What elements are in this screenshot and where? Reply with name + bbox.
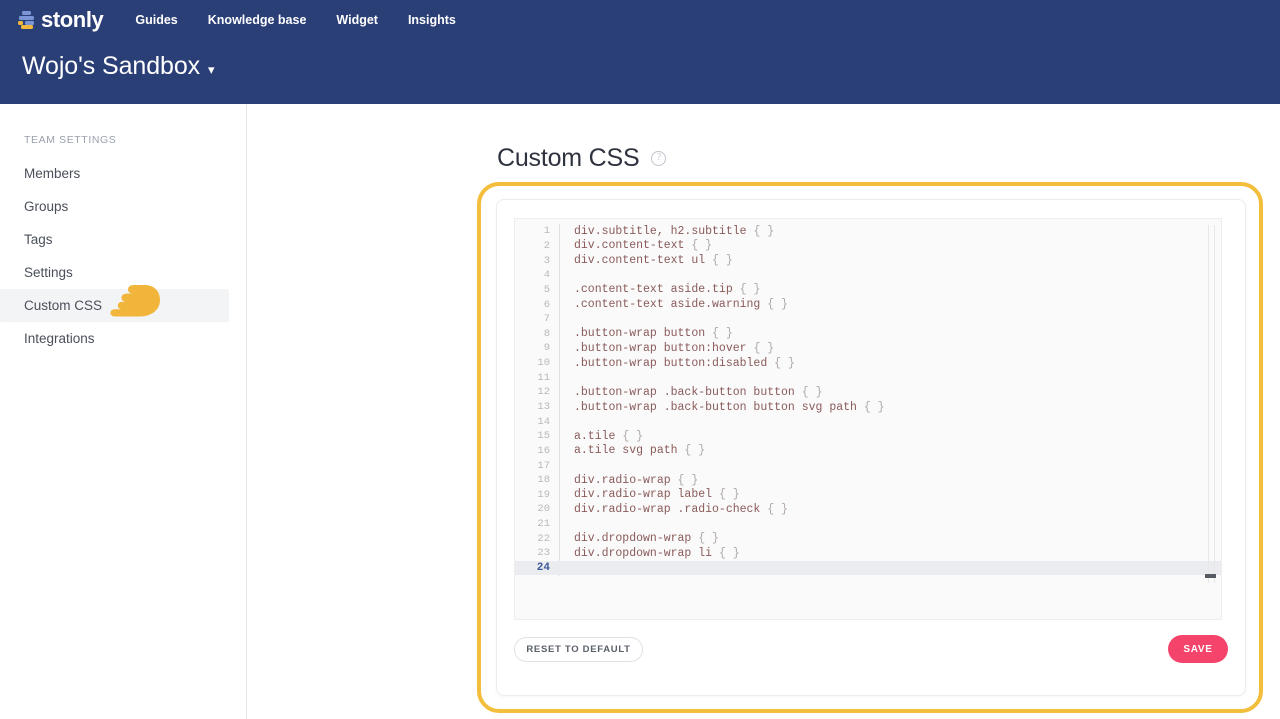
sidebar-item-label: Groups — [24, 199, 68, 214]
code-text: div.radio-wrap .radio-check { } — [559, 503, 788, 516]
code-line[interactable]: 20div.radio-wrap .radio-check { } — [515, 502, 1221, 517]
editor-line-list: 1div.subtitle, h2.subtitle { }2div.conte… — [515, 224, 1221, 575]
line-number: 1 — [515, 225, 559, 237]
css-code-editor[interactable]: 1div.subtitle, h2.subtitle { }2div.conte… — [514, 218, 1222, 620]
save-button[interactable]: SAVE — [1168, 635, 1228, 663]
code-line[interactable]: 19div.radio-wrap label { } — [515, 488, 1221, 503]
code-text: .content-text aside.tip { } — [559, 283, 760, 296]
line-number: 15 — [515, 430, 559, 442]
code-line[interactable]: 5.content-text aside.tip { } — [515, 283, 1221, 298]
sidebar-item-label: Settings — [24, 265, 73, 280]
sidebar-item-custom-css[interactable]: Custom CSS — [0, 289, 229, 322]
line-number: 6 — [515, 299, 559, 311]
brand-logo[interactable]: stonly — [18, 9, 103, 31]
code-line[interactable]: 24 — [515, 561, 1221, 576]
sidebar-item-members[interactable]: Members — [0, 157, 246, 190]
code-text: .button-wrap .back-button button { } — [559, 386, 822, 399]
header-nav-links: Guides Knowledge base Widget Insights — [135, 13, 455, 27]
code-line[interactable]: 7 — [515, 312, 1221, 327]
sidebar-item-integrations[interactable]: Integrations — [0, 322, 246, 355]
page-title: Custom CSS — [497, 144, 639, 173]
code-line[interactable]: 2div.content-text { } — [515, 239, 1221, 254]
editor-scrollbar-thumb[interactable] — [1205, 574, 1216, 578]
sidebar-item-groups[interactable]: Groups — [0, 190, 246, 223]
line-number: 13 — [515, 401, 559, 413]
line-number: 14 — [515, 416, 559, 428]
code-text: .button-wrap button:disabled { } — [559, 357, 795, 370]
team-name: Wojo's Sandbox — [22, 52, 200, 81]
code-line[interactable]: 14 — [515, 414, 1221, 429]
top-header: stonly Guides Knowledge base Widget Insi… — [0, 0, 1280, 104]
header-nav-row: stonly Guides Knowledge base Widget Insi… — [0, 0, 1280, 40]
nav-item-guides[interactable]: Guides — [135, 13, 177, 27]
code-line[interactable]: 10.button-wrap button:disabled { } — [515, 356, 1221, 371]
line-number: 21 — [515, 518, 559, 530]
code-line[interactable]: 15a.tile { } — [515, 429, 1221, 444]
code-text: .button-wrap .back-button button svg pat… — [559, 401, 885, 414]
sidebar-item-label: Integrations — [24, 331, 95, 346]
code-line[interactable]: 18div.radio-wrap { } — [515, 473, 1221, 488]
line-number: 5 — [515, 284, 559, 296]
code-text: .button-wrap button:hover { } — [559, 342, 774, 355]
sidebar-list: Members Groups Tags Settings Custom CSS … — [0, 157, 246, 355]
editor-scrollbar-track[interactable] — [1208, 225, 1215, 583]
line-number: 9 — [515, 342, 559, 354]
code-line[interactable]: 6.content-text aside.warning { } — [515, 297, 1221, 312]
team-switcher[interactable]: Wojo's Sandbox ▾ — [22, 52, 215, 81]
code-text: a.tile { } — [559, 430, 643, 443]
code-text: div.content-text { } — [559, 239, 712, 252]
line-number: 11 — [515, 372, 559, 384]
line-number: 24 — [515, 562, 559, 574]
sidebar-item-label: Members — [24, 166, 80, 181]
code-line[interactable]: 12.button-wrap .back-button button { } — [515, 385, 1221, 400]
main-content: Custom CSS ? 1div.subtitle, h2.subtitle … — [248, 104, 1280, 719]
nav-item-knowledge-base[interactable]: Knowledge base — [208, 13, 307, 27]
line-number: 3 — [515, 255, 559, 267]
line-number: 12 — [515, 386, 559, 398]
sidebar-heading: TEAM SETTINGS — [24, 134, 116, 146]
stonly-stack-logo-icon — [18, 11, 35, 29]
line-number: 16 — [515, 445, 559, 457]
code-line[interactable]: 21 — [515, 517, 1221, 532]
code-text: div.content-text ul { } — [559, 254, 733, 267]
line-number: 17 — [515, 460, 559, 472]
line-number: 4 — [515, 269, 559, 281]
line-number: 23 — [515, 547, 559, 559]
code-line[interactable]: 11 — [515, 370, 1221, 385]
code-line[interactable]: 16a.tile svg path { } — [515, 444, 1221, 459]
custom-css-card: 1div.subtitle, h2.subtitle { }2div.conte… — [496, 199, 1246, 696]
line-number: 2 — [515, 240, 559, 252]
line-number: 22 — [515, 533, 559, 545]
reset-to-default-button[interactable]: RESET TO DEFAULT — [514, 637, 643, 662]
code-line[interactable]: 8.button-wrap button { } — [515, 326, 1221, 341]
line-number: 7 — [515, 313, 559, 325]
code-line[interactable]: 13.button-wrap .back-button button svg p… — [515, 400, 1221, 415]
code-line[interactable]: 17 — [515, 458, 1221, 473]
code-text: a.tile svg path { } — [559, 444, 705, 457]
sidebar: TEAM SETTINGS Members Groups Tags Settin… — [0, 104, 247, 719]
sidebar-item-settings[interactable]: Settings — [0, 256, 246, 289]
sidebar-item-tags[interactable]: Tags — [0, 223, 246, 256]
chevron-down-icon: ▾ — [208, 63, 215, 76]
sidebar-item-label: Tags — [24, 232, 53, 247]
code-line[interactable]: 4 — [515, 268, 1221, 283]
code-line[interactable]: 9.button-wrap button:hover { } — [515, 341, 1221, 356]
nav-item-insights[interactable]: Insights — [408, 13, 456, 27]
code-line[interactable]: 23div.dropdown-wrap li { } — [515, 546, 1221, 561]
line-number: 10 — [515, 357, 559, 369]
code-text: .button-wrap button { } — [559, 327, 733, 340]
brand-name: stonly — [41, 9, 103, 31]
code-line[interactable]: 1div.subtitle, h2.subtitle { } — [515, 224, 1221, 239]
code-text: div.dropdown-wrap { } — [559, 532, 719, 545]
line-number: 20 — [515, 503, 559, 515]
code-text: div.dropdown-wrap li { } — [559, 547, 740, 560]
line-number: 18 — [515, 474, 559, 486]
code-text: div.subtitle, h2.subtitle { } — [559, 225, 774, 238]
sidebar-item-label: Custom CSS — [24, 298, 102, 313]
code-text: div.radio-wrap { } — [559, 474, 698, 487]
code-text: .content-text aside.warning { } — [559, 298, 788, 311]
code-text: div.radio-wrap label { } — [559, 488, 740, 501]
line-number: 19 — [515, 489, 559, 501]
line-number: 8 — [515, 328, 559, 340]
page-title-row: Custom CSS ? — [497, 144, 666, 173]
nav-item-widget[interactable]: Widget — [336, 13, 378, 27]
code-line[interactable]: 3div.content-text ul { } — [515, 253, 1221, 268]
help-circle-icon[interactable]: ? — [651, 151, 666, 166]
code-line[interactable]: 22div.dropdown-wrap { } — [515, 531, 1221, 546]
